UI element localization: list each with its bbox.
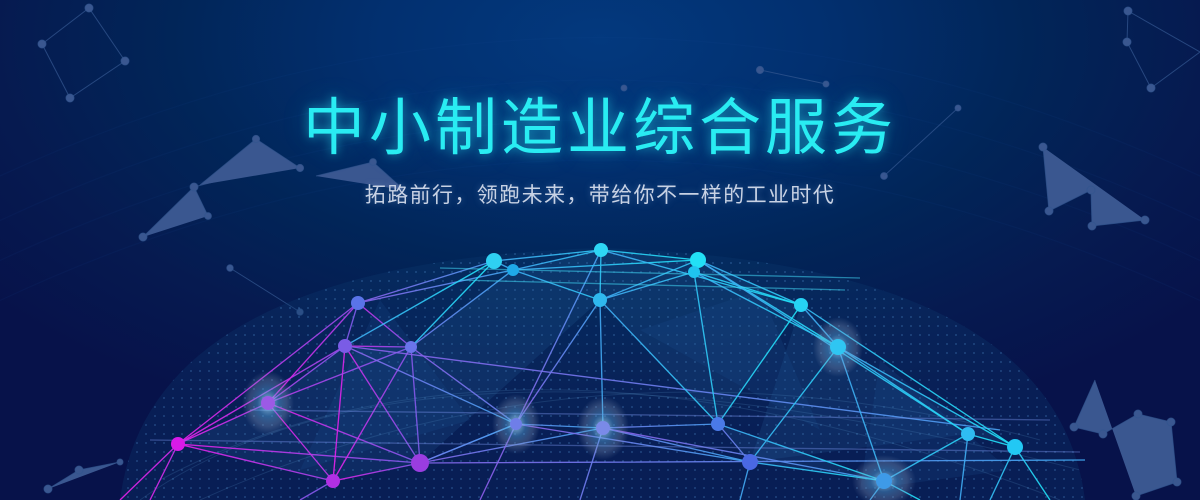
dome-node [171,437,185,451]
dome-node [1007,439,1023,455]
dome-node [510,418,522,430]
dome-node [794,298,808,312]
dome-node [486,253,502,269]
dome-node [351,296,365,310]
dome-node [711,417,725,431]
dome-node [961,427,975,441]
dome-node [261,396,275,410]
dome-node [326,474,340,488]
dome-node [507,264,519,276]
dome-node [338,339,352,353]
dome-node [593,293,607,307]
dome-node [876,473,892,489]
dome-node [742,454,758,470]
page-subtitle: 拓路前行，领跑未来，带给你不一样的工业时代 [0,179,1200,209]
dome-node [688,266,700,278]
hero-banner: 中小制造业综合服务 拓路前行，领跑未来，带给你不一样的工业时代 [0,0,1200,500]
dome-node [594,243,608,257]
dome-node [405,341,417,353]
dome-node [830,339,846,355]
dome-node [596,421,610,435]
dome-node [411,454,429,472]
page-title: 中小制造业综合服务 [0,96,1200,163]
wireframe-dome-network [0,0,1200,500]
dome-node [690,252,706,268]
banner-text-block: 中小制造业综合服务 拓路前行，领跑未来，带给你不一样的工业时代 [0,96,1200,209]
